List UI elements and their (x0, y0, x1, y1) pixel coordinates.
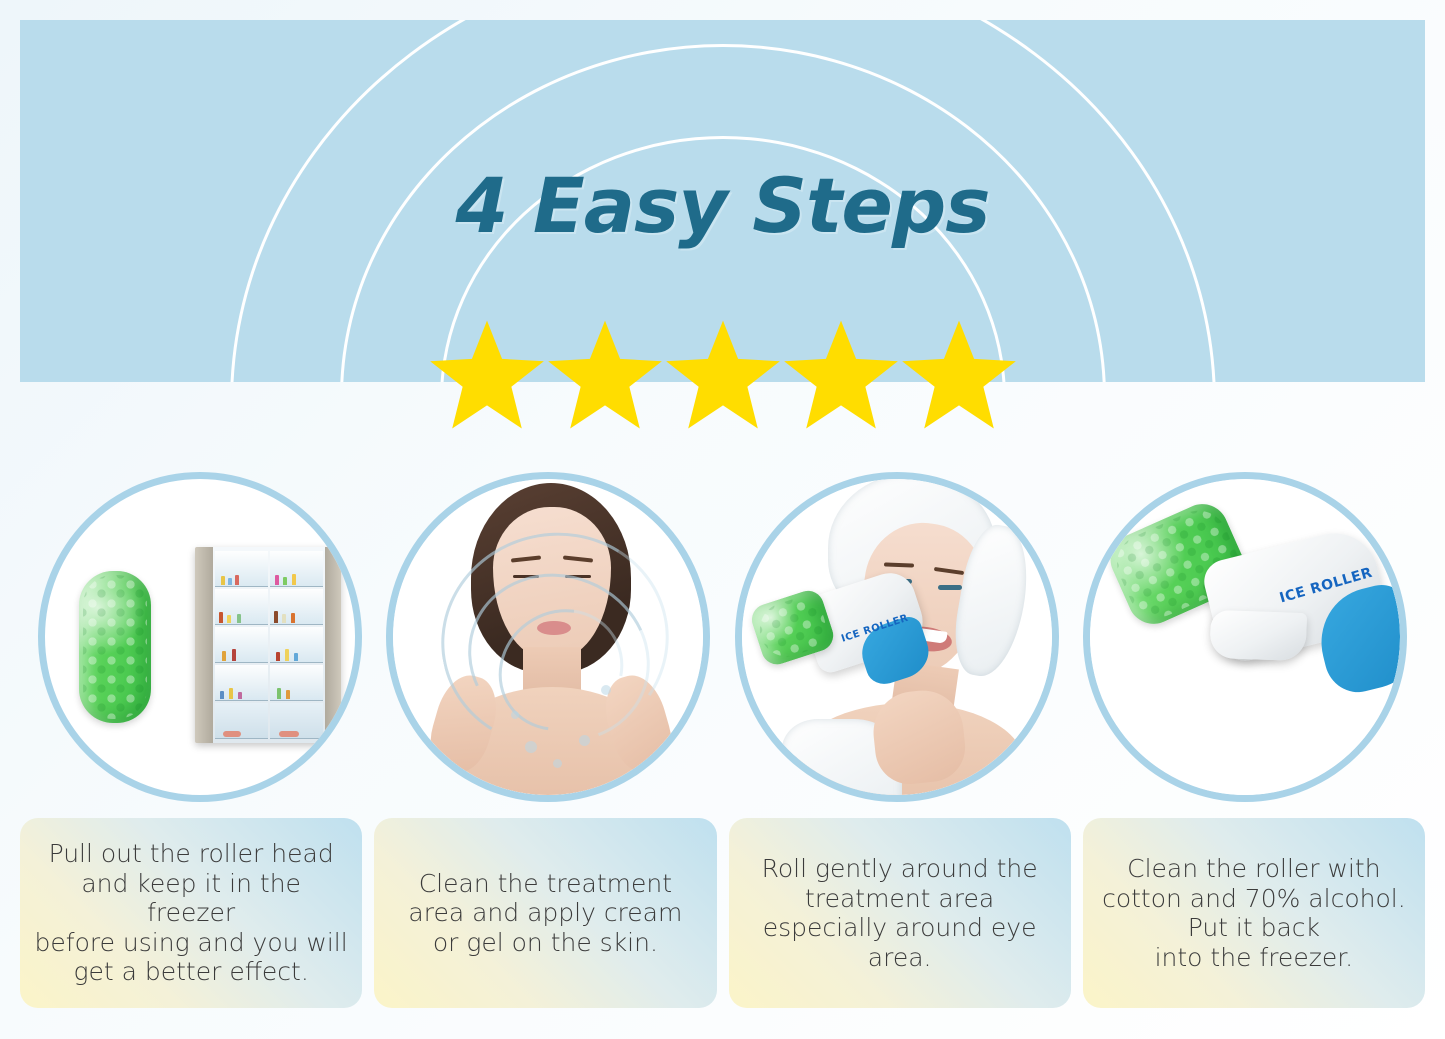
roller-head-icon (79, 571, 151, 723)
scene-roller-disassembled: ICE ROLLER (1090, 479, 1400, 795)
fridge-interior (213, 547, 325, 743)
fridge-shelf (215, 551, 268, 587)
roller-fork-arm (1209, 610, 1307, 661)
fridge-shelf (270, 665, 323, 701)
step-image-3-rolling-cheek: ICE ROLLER (735, 472, 1059, 802)
fridge-door-right (325, 547, 341, 743)
star-icon-1 (429, 318, 545, 430)
star-icon-5 (901, 318, 1017, 430)
fridge-shelf (215, 665, 268, 701)
fridge-shelf (215, 627, 268, 663)
step-image-2-washing-face (386, 472, 710, 802)
step-image-1-roller-and-freezer (38, 472, 362, 802)
scene-roller-and-freezer (45, 479, 355, 795)
fridge-column-right (270, 551, 323, 739)
scene-rolling-cheek: ICE ROLLER (742, 479, 1052, 795)
refrigerator-icon (195, 547, 341, 743)
rating-stars (0, 318, 1445, 430)
step-caption-4: Clean the roller with cotton and 70% alc… (1083, 818, 1425, 1008)
caption-text: Clean the treatment area and apply cream… (408, 869, 682, 958)
step-caption-1: Pull out the roller head and keep it in … (20, 818, 362, 1008)
caption-text: Roll gently around the treatment area es… (762, 854, 1038, 972)
star-icon-2 (547, 318, 663, 430)
fridge-shelf (270, 589, 323, 625)
fridge-shelf (215, 589, 268, 625)
fridge-shelf (270, 551, 323, 587)
scene-washing-face (393, 479, 703, 795)
fridge-crisper-drawer (270, 703, 323, 739)
page-title: 4 Easy Steps (0, 168, 1445, 244)
caption-text: Pull out the roller head and keep it in … (34, 839, 348, 987)
step-caption-2: Clean the treatment area and apply cream… (374, 818, 716, 1008)
eye-right (938, 585, 962, 590)
fridge-crisper-drawer (215, 703, 268, 739)
star-icon-4 (783, 318, 899, 430)
infographic-poster: 4 Easy Steps (0, 0, 1445, 1039)
step-caption-3: Roll gently around the treatment area es… (729, 818, 1071, 1008)
fridge-door-left (195, 547, 213, 743)
fridge-column-left (215, 551, 268, 739)
step-image-4-roller-disassembled: ICE ROLLER (1083, 472, 1407, 802)
star-icon-3 (665, 318, 781, 430)
step-images-row: ICE ROLLER ICE ROLLER (20, 472, 1425, 808)
caption-text: Clean the roller with cotton and 70% alc… (1102, 854, 1406, 972)
fridge-shelf (270, 627, 323, 663)
step-captions-row: Pull out the roller head and keep it in … (20, 818, 1425, 1008)
